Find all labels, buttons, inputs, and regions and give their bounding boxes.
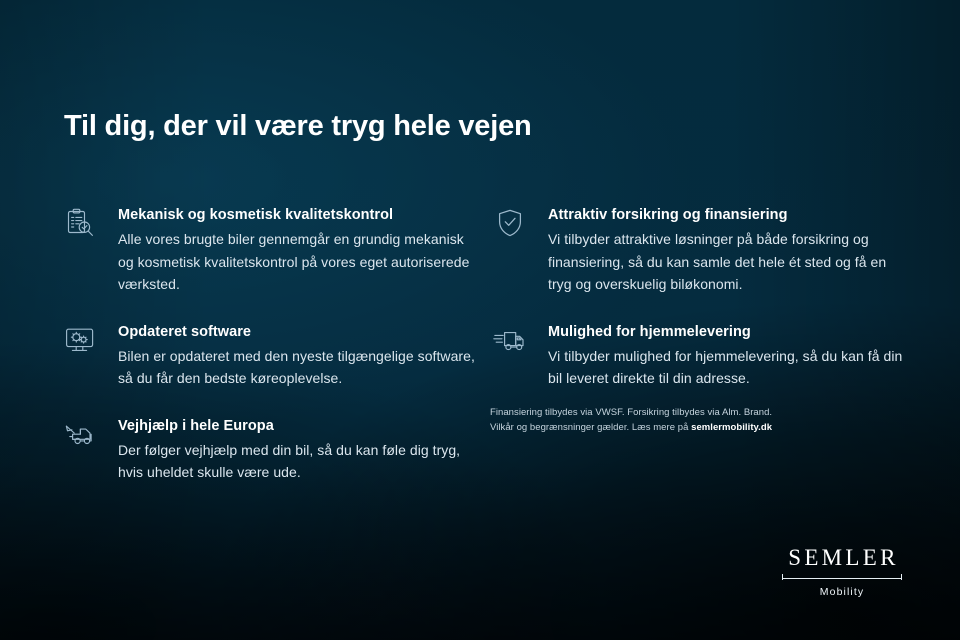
feature-item-quality-control: Mekanisk og kosmetisk kvalitetskontrol A… xyxy=(60,205,480,296)
logo-divider-cap-right xyxy=(901,574,902,580)
fineprint-line-2: Vilkår og begrænsninger gælder. Læs mere… xyxy=(490,420,890,435)
page-title: Til dig, der vil være tryg hele vejen xyxy=(64,110,532,143)
feature-text: Mulighed for hjemmelevering Vi tilbyder … xyxy=(530,322,910,390)
feature-text: Mekanisk og kosmetisk kvalitetskontrol A… xyxy=(100,205,480,296)
feature-item-home-delivery: Mulighed for hjemmelevering Vi tilbyder … xyxy=(490,322,910,390)
logo-divider xyxy=(782,574,902,582)
feature-item-insurance-financing: Attraktiv forsikring og finansiering Vi … xyxy=(490,205,910,296)
semler-mobility-logo: SEMLER Mobility xyxy=(782,545,902,598)
shield-check-icon xyxy=(490,205,530,241)
logo-divider-bar xyxy=(782,578,902,579)
feature-title: Vejhjælp i hele Europa xyxy=(118,416,480,436)
slide-canvas: Til dig, der vil være tryg hele vejen xyxy=(0,0,960,640)
feature-item-updated-software: Opdateret software Bilen er opdateret me… xyxy=(60,322,480,390)
legal-fineprint: Finansiering tilbydes via VWSF. Forsikri… xyxy=(490,405,890,435)
feature-description: Alle vores brugte biler gennemgår en gru… xyxy=(118,228,480,296)
feature-title: Mulighed for hjemmelevering xyxy=(548,322,910,342)
feature-text: Vejhjælp i hele Europa Der følger vejhjæ… xyxy=(100,416,480,484)
feature-description: Bilen er opdateret med den nyeste tilgæn… xyxy=(118,345,480,390)
feature-description: Der følger vejhjælp med din bil, så du k… xyxy=(118,439,480,484)
monitor-gears-icon xyxy=(60,322,100,358)
semlermobility-link[interactable]: semlermobility.dk xyxy=(691,422,772,433)
feature-text: Attraktiv forsikring og finansiering Vi … xyxy=(530,205,910,296)
feature-column-right: Attraktiv forsikring og finansiering Vi … xyxy=(490,205,910,390)
fineprint-line-2-text: Vilkår og begrænsninger gælder. Læs mere… xyxy=(490,422,691,433)
feature-title: Opdateret software xyxy=(118,322,480,342)
feature-text: Opdateret software Bilen er opdateret me… xyxy=(100,322,480,390)
logo-subtitle: Mobility xyxy=(782,586,902,598)
delivery-truck-icon xyxy=(490,322,530,358)
feature-description: Vi tilbyder attraktive løsninger på både… xyxy=(548,228,910,296)
feature-description: Vi tilbyder mulighed for hjemmelevering,… xyxy=(548,345,910,390)
feature-column-left: Mekanisk og kosmetisk kvalitetskontrol A… xyxy=(60,205,480,484)
logo-wordmark: SEMLER xyxy=(782,545,902,571)
feature-title: Mekanisk og kosmetisk kvalitetskontrol xyxy=(118,205,480,225)
fineprint-line-1: Finansiering tilbydes via VWSF. Forsikri… xyxy=(490,405,890,420)
feature-item-roadside-assistance: Vejhjælp i hele Europa Der følger vejhjæ… xyxy=(60,416,480,484)
feature-title: Attraktiv forsikring og finansiering xyxy=(548,205,910,225)
tow-truck-icon xyxy=(60,416,100,452)
clipboard-search-icon xyxy=(60,205,100,241)
